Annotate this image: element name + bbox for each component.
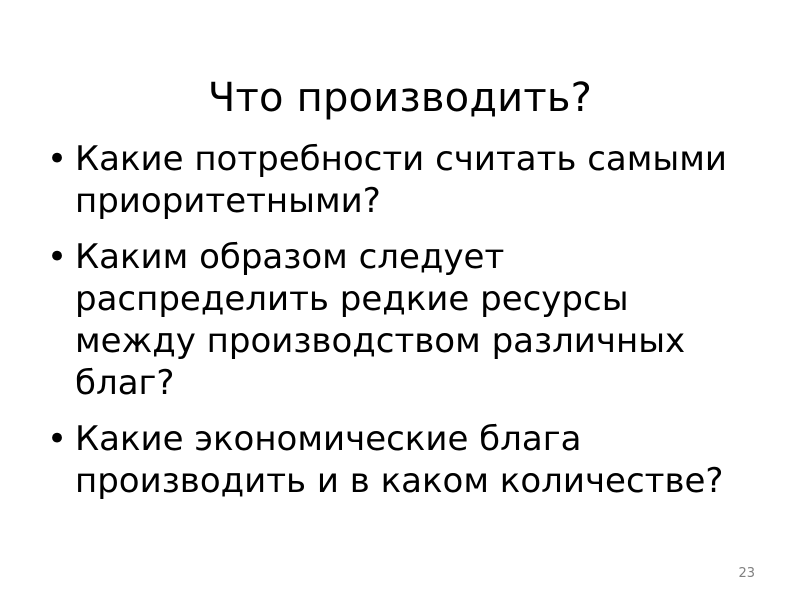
bullet-list: • Какие потребности считать самыми приор… [40, 138, 760, 502]
page-title: Что производить? [0, 73, 800, 123]
bullet-dot-icon: • [40, 418, 75, 460]
list-item-text: Какие потребности считать самыми приорит… [75, 138, 755, 222]
page-number: 23 [738, 566, 755, 582]
list-item-text: Каким образом следует распределить редки… [75, 236, 755, 404]
presentation-slide: Что производить? • Какие потребности счи… [0, 0, 800, 600]
bullet-dot-icon: • [40, 138, 75, 180]
list-item: • Какие потребности считать самыми приор… [40, 138, 760, 222]
list-item-text: Какие экономические блага производить и … [75, 418, 755, 502]
bullet-dot-icon: • [40, 236, 75, 278]
list-item: • Какие экономические блага производить … [40, 418, 760, 502]
list-item: • Каким образом следует распределить ред… [40, 236, 760, 404]
